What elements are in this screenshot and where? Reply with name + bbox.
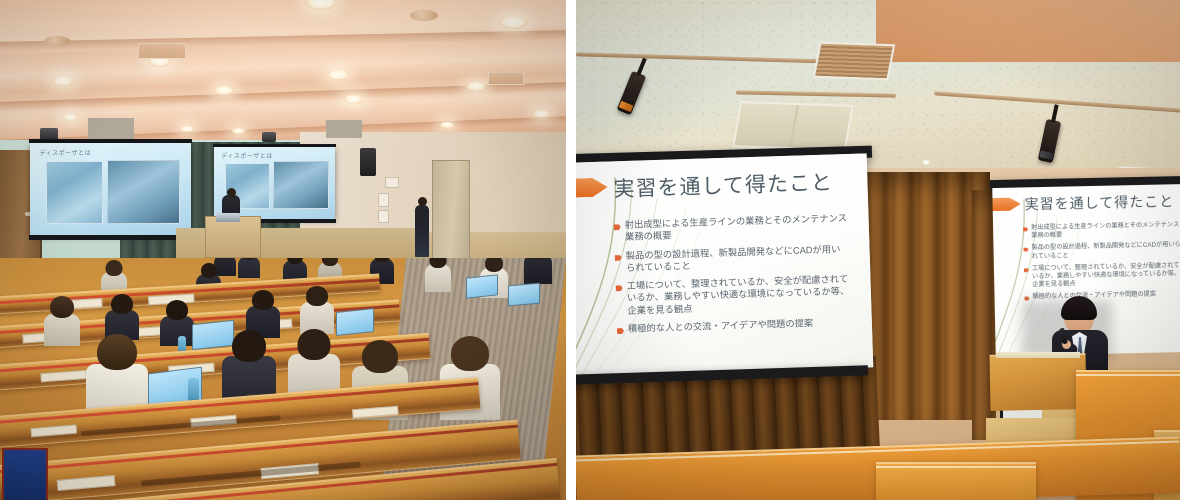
screen-frame-bottom: [29, 235, 192, 240]
audience-seating: [0, 258, 566, 500]
ceiling-downlight: [327, 70, 349, 80]
ceiling-soffit: [876, 0, 1180, 62]
ceiling-vent: [488, 72, 524, 85]
ceiling-downlight: [52, 76, 74, 86]
lectern: [205, 216, 261, 258]
slide-bullet: 製品の型の設計過程、新製品開発などにCADが用いられていること: [625, 242, 850, 274]
slide-bullet-text: 製品の型の設計過程、新製品開発などにCADが用いられていること: [625, 244, 840, 273]
student: [44, 314, 80, 346]
student-laptop: [336, 308, 374, 336]
lectern-top-edge: [996, 352, 1080, 358]
ceiling-downlight: [922, 160, 930, 165]
slide-bullet: 工場について、整理されているか、安全が配慮されているか、業務しやすい快適な環境に…: [1032, 262, 1180, 290]
projector-mount: [326, 120, 362, 138]
ceiling-downlight: [62, 114, 78, 121]
photo-right-presenter: 実習を通して得たこと 射出成型による生産ラインの業務とそのメンテナンス業務の概要…: [576, 0, 1180, 500]
lectern-laptop: [216, 213, 240, 222]
photo-left-lecture-hall: ディスポーザとは ディスポーザとは: [0, 0, 566, 500]
standing-observer: [415, 205, 429, 257]
slide-bullet: 製品の型の設計過程、新製品開発などにCADが用いられていること: [1031, 241, 1180, 261]
wall-speaker-icon: [360, 148, 376, 176]
slide-title: 実習を通して得たこと: [1024, 191, 1174, 214]
projected-slide-main: 実習を通して得たこと 射出成型による生産ラインの業務とそのメンテナンス業務の概要…: [576, 153, 873, 376]
projector-mount: [88, 118, 134, 140]
rear-doorway[interactable]: [432, 160, 470, 270]
ceiling-downlight: [180, 126, 194, 132]
wall-control-panel[interactable]: [378, 193, 389, 207]
ceiling-downlight: [533, 110, 550, 118]
projector: [262, 132, 276, 142]
ceiling-downlight: [214, 86, 234, 95]
wall-control-panel[interactable]: [378, 210, 389, 223]
ceiling-downlight: [232, 128, 245, 134]
student: [214, 258, 236, 276]
slide-bullet-text: 積極的な人との交流・アイデアや問題の提案: [628, 318, 814, 334]
slide-bullet-text: 射出成型による生産ラインの業務とそのメンテナンス業務の概要: [1031, 221, 1179, 239]
student-laptop: [508, 283, 540, 307]
seat-side-panel: [2, 448, 48, 500]
student: [238, 258, 260, 278]
slide-bullet-text: 製品の型の設計過程、新製品開発などにCADが用いられていること: [1031, 242, 1180, 260]
slide-bullet-text: 工場について、整理されているか、安全が配慮されているか、業務しやすい快適な環境に…: [626, 274, 849, 315]
slide-bullet: 積極的な人との交流・アイデアや問題の提案: [628, 316, 852, 335]
slide-bullet: 射出成型による生産ラインの業務とそのメンテナンス業務の概要: [1031, 221, 1180, 241]
smoke-detector: [410, 10, 438, 21]
ceiling-air-grille: [813, 42, 895, 81]
slide-bullet-text: 工場について、整理されているか、安全が配慮されているか、業務しやすい快適な環境に…: [1032, 262, 1180, 288]
left-screen-slide-title: ディスポーザとは: [40, 148, 91, 157]
wall-notice: [385, 177, 399, 188]
screenshot-root: ディスポーザとは ディスポーザとは: [0, 0, 1180, 500]
student-laptop: [192, 320, 234, 350]
student: [425, 264, 451, 292]
right-screen-slide-title: ディスポーザとは: [221, 151, 272, 160]
student-laptop: [466, 274, 498, 298]
student: [524, 258, 552, 284]
slide-bullet: 工場について、整理されているか、安全が配慮されているか、業務しやすい快適な環境に…: [626, 273, 851, 317]
ceiling-downlight: [344, 95, 363, 104]
slide-bullet-text: 射出成型による生産ラインの業務とそのメンテナンス業務の概要: [625, 213, 848, 242]
ceiling-downlight: [440, 122, 454, 128]
projector-screen-left: ディスポーザとは: [30, 143, 191, 235]
ceiling-downlight: [498, 16, 528, 29]
ceiling-vent: [138, 43, 186, 59]
smoke-detector: [44, 36, 70, 46]
ceiling-light-panel: [732, 101, 853, 151]
photo-gutter: [566, 0, 576, 500]
audience-desk-row: [876, 462, 1036, 500]
student: [160, 316, 194, 346]
lectern: [990, 353, 1087, 411]
ceiling-downlight: [466, 82, 486, 91]
